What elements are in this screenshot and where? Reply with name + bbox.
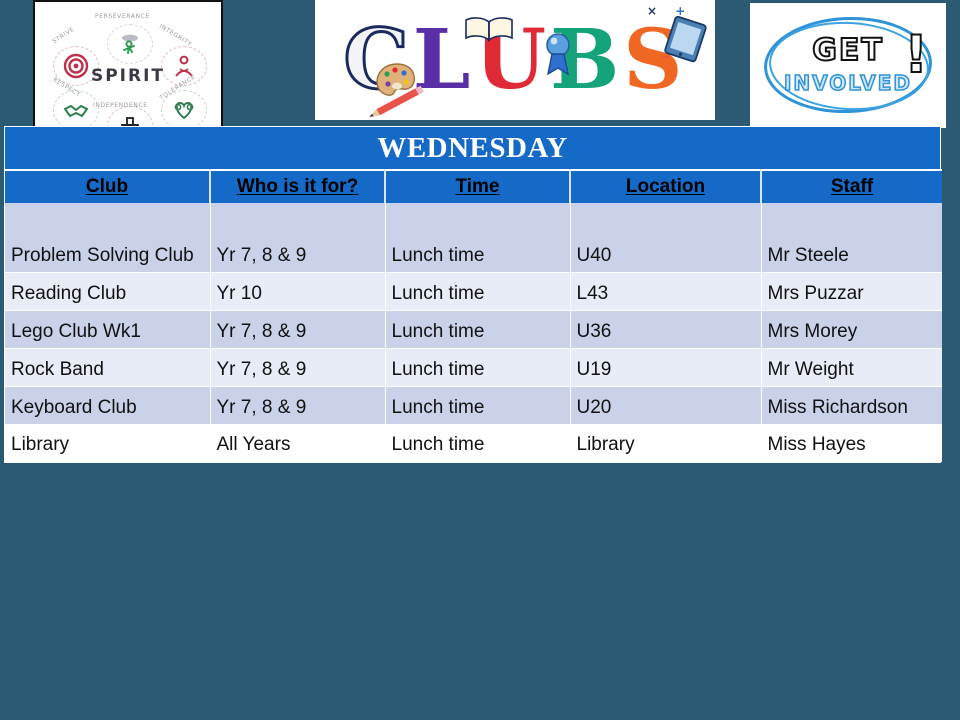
award-ribbon-icon bbox=[543, 32, 573, 81]
cell-time: Lunch time bbox=[385, 424, 570, 461]
column-header-staff: Staff bbox=[761, 170, 942, 203]
math-symbols-icon: × + bbox=[647, 4, 685, 18]
column-header-who: Who is it for? bbox=[210, 170, 385, 203]
cell-time: Lunch time bbox=[385, 272, 570, 310]
table-row: Problem Solving Club Yr 7, 8 & 9 Lunch t… bbox=[5, 203, 942, 272]
table-header-row: Club Who is it for? Time Location Staff bbox=[5, 170, 942, 203]
cell-location: Library bbox=[570, 424, 761, 461]
cell-staff: Mrs Puzzar bbox=[761, 272, 942, 310]
cell-who: Yr 10 bbox=[210, 272, 385, 310]
integrity-label: INTEGRITY bbox=[158, 23, 193, 49]
cell-staff: Mr Steele bbox=[761, 203, 942, 272]
clubs-banner: CLUBS bbox=[315, 0, 715, 120]
table-row: Rock Band Yr 7, 8 & 9 Lunch time U19 Mr … bbox=[5, 348, 942, 386]
perseverance-icon bbox=[107, 24, 153, 64]
perseverance-label: PERSEVERANCE bbox=[95, 13, 150, 20]
cell-location: U40 bbox=[570, 203, 761, 272]
cell-club: Reading Club bbox=[5, 272, 210, 310]
cell-location: U20 bbox=[570, 386, 761, 424]
cell-who: Yr 7, 8 & 9 bbox=[210, 386, 385, 424]
clubs-table: Club Who is it for? Time Location Staff … bbox=[5, 169, 942, 462]
independence-label: INDEPENDENCE bbox=[93, 102, 148, 109]
table-row: Lego Club Wk1 Yr 7, 8 & 9 Lunch time U36… bbox=[5, 310, 942, 348]
cell-staff: Mr Weight bbox=[761, 348, 942, 386]
cell-staff: Mrs Morey bbox=[761, 310, 942, 348]
day-title: WEDNESDAY bbox=[5, 127, 940, 169]
cell-staff: Miss Hayes bbox=[761, 424, 942, 461]
cell-who: All Years bbox=[210, 424, 385, 461]
spirit-title: SPIRIT bbox=[35, 66, 221, 86]
cell-club: Keyboard Club bbox=[5, 386, 210, 424]
cell-who: Yr 7, 8 & 9 bbox=[210, 203, 385, 272]
strive-label: STRIVE bbox=[51, 26, 76, 45]
open-book-icon bbox=[463, 14, 515, 49]
cell-time: Lunch time bbox=[385, 203, 570, 272]
column-header-time: Time bbox=[385, 170, 570, 203]
cell-club: Problem Solving Club bbox=[5, 203, 210, 272]
cell-location: U19 bbox=[570, 348, 761, 386]
cell-location: L43 bbox=[570, 272, 761, 310]
cell-who: Yr 7, 8 & 9 bbox=[210, 348, 385, 386]
table-row: Library All Years Lunch time Library Mis… bbox=[5, 424, 942, 461]
column-header-club: Club bbox=[5, 170, 210, 203]
get-involved-banner: GET INVOLVED ! bbox=[750, 3, 946, 128]
column-header-location: Location bbox=[570, 170, 761, 203]
cell-location: U36 bbox=[570, 310, 761, 348]
cell-club: Lego Club Wk1 bbox=[5, 310, 210, 348]
cell-staff: Miss Richardson bbox=[761, 386, 942, 424]
cell-who: Yr 7, 8 & 9 bbox=[210, 310, 385, 348]
cell-club: Library bbox=[5, 424, 210, 461]
exclamation-mark: ! bbox=[904, 29, 928, 81]
divide-symbol-icon: − bbox=[661, 50, 670, 63]
cell-time: Lunch time bbox=[385, 348, 570, 386]
table-row: Keyboard Club Yr 7, 8 & 9 Lunch time U20… bbox=[5, 386, 942, 424]
cell-time: Lunch time bbox=[385, 310, 570, 348]
cell-time: Lunch time bbox=[385, 386, 570, 424]
clubs-timetable: WEDNESDAY Club Who is it for? Time Locat… bbox=[4, 126, 941, 463]
table-row: Reading Club Yr 10 Lunch time L43 Mrs Pu… bbox=[5, 272, 942, 310]
cell-club: Rock Band bbox=[5, 348, 210, 386]
slide-canvas: STRIVE PERSEVERANCE INTE bbox=[0, 0, 960, 720]
